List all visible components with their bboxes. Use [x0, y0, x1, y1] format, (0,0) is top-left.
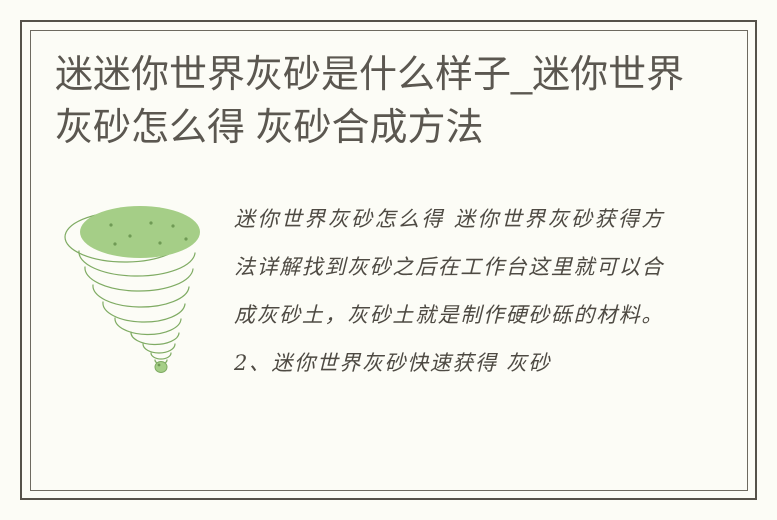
tornado-tip-highlight: [158, 364, 161, 367]
article-content-area: 迷迷你世界灰砂是什么样子_迷你世界灰砂怎么得 灰砂合成方法: [31, 31, 747, 490]
tornado-funnel-arcs: [79, 251, 195, 364]
article-body-section: 迷你世界灰砂怎么得 迷你世界灰砂获得方法详解找到灰砂之后在工作台这里就可以合成灰…: [31, 191, 747, 490]
article-body-text: 迷你世界灰砂怎么得 迷你世界灰砂获得方法详解找到灰砂之后在工作台这里就可以合成灰…: [234, 195, 664, 387]
tornado-tip-ball: [155, 362, 167, 373]
article-thumbnail: [53, 201, 223, 376]
page-title: 迷迷你世界灰砂是什么样子_迷你世界灰砂怎么得 灰砂合成方法: [55, 49, 705, 155]
article-page: 迷迷你世界灰砂是什么样子_迷你世界灰砂怎么得 灰砂合成方法: [0, 0, 777, 520]
green-tornado-illustration: [53, 201, 223, 376]
tornado-top-disc: [80, 206, 200, 258]
